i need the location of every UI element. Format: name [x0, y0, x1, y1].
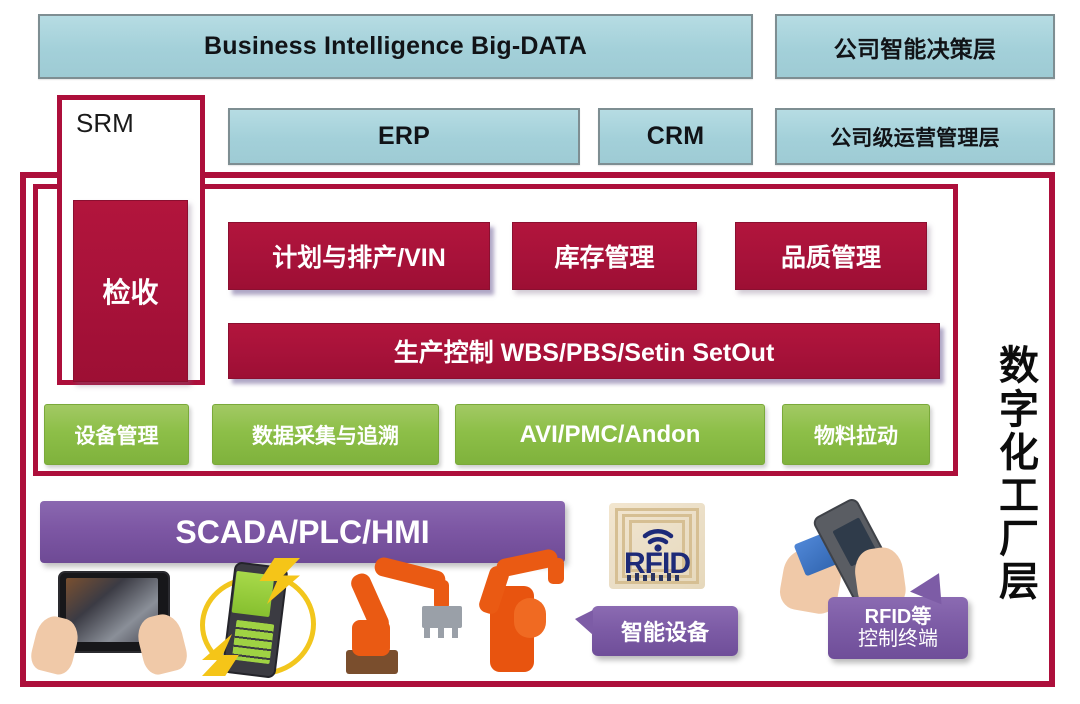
- factory-layer-char-1: 字: [999, 389, 1039, 432]
- module-equipment-management-label: 设备管理: [75, 420, 159, 450]
- callout-rfid-terminal: RFID等 控制终端: [828, 597, 968, 659]
- production-control-label: 生产控制 WBS/PBS/Setin SetOut: [394, 333, 775, 369]
- scada-plc-hmi-label: SCADA/PLC/HMI: [175, 514, 429, 551]
- module-inventory: 库存管理: [512, 222, 697, 290]
- module-material-pull-label: 物料拉动: [814, 420, 898, 450]
- factory-layer-char-2: 化: [999, 432, 1039, 475]
- diagram-canvas: Business Intelligence Big-DATA 公司智能决策层 E…: [0, 0, 1080, 704]
- rugged-phone-illustration: [198, 560, 310, 678]
- module-data-collection-trace-label: 数据采集与追溯: [252, 420, 399, 450]
- erp-box: ERP: [228, 108, 580, 165]
- srm-title: SRM: [76, 108, 134, 139]
- module-avi-pmc-andon-label: AVI/PMC/Andon: [520, 421, 701, 449]
- factory-layer-vertical-label: 数 字 化 工 厂 层: [995, 275, 1043, 675]
- module-equipment-management: 设备管理: [44, 404, 189, 465]
- callout-smart-equipment-label: 智能设备: [621, 615, 709, 647]
- decision-layer-label: 公司智能决策层: [834, 30, 996, 64]
- operation-layer-box: 公司级运营管理层: [775, 108, 1055, 165]
- callout-rfid-terminal-line1: RFID等: [865, 606, 932, 628]
- factory-layer-char-0: 数: [999, 345, 1039, 388]
- callout-rfid-terminal-line2: 控制终端: [858, 628, 938, 650]
- industrial-robot-arm-2-illustration: [460, 552, 580, 678]
- callout-smart-equipment-tail-icon: [575, 610, 593, 635]
- operation-layer-label: 公司级运营管理层: [830, 122, 1000, 152]
- callout-smart-equipment: 智能设备: [592, 606, 738, 656]
- module-planning-scheduling: 计划与排产/VIN: [228, 222, 490, 290]
- module-material-pull: 物料拉动: [782, 404, 930, 465]
- rfid-tag-logo-illustration: RFID: [609, 503, 705, 589]
- decision-layer-box: 公司智能决策层: [775, 14, 1055, 79]
- factory-layer-char-3: 工: [999, 475, 1039, 518]
- tablet-with-hands-illustration: [30, 565, 185, 675]
- module-quality-label: 品质管理: [781, 238, 881, 274]
- module-avi-pmc-andon: AVI/PMC/Andon: [455, 404, 765, 465]
- production-control-bar: 生产控制 WBS/PBS/Setin SetOut: [228, 323, 940, 379]
- erp-label: ERP: [378, 122, 430, 151]
- bi-bigdata-label: Business Intelligence Big-DATA: [204, 32, 587, 61]
- bi-bigdata-box: Business Intelligence Big-DATA: [38, 14, 753, 79]
- industrial-robot-arm-1-illustration: [330, 558, 460, 678]
- srm-module-inspection: 检收: [73, 200, 188, 382]
- factory-layer-char-4: 厂: [999, 518, 1039, 561]
- handheld-rfid-scanner-illustration: [778, 500, 908, 612]
- rfid-chip-pads-icon: [609, 503, 705, 589]
- crm-label: CRM: [647, 122, 705, 151]
- module-inventory-label: 库存管理: [554, 238, 654, 274]
- module-quality: 品质管理: [735, 222, 927, 290]
- crm-box: CRM: [598, 108, 753, 165]
- module-planning-scheduling-label: 计划与排产/VIN: [272, 238, 446, 274]
- module-data-collection-trace: 数据采集与追溯: [212, 404, 439, 465]
- srm-module-inspection-label: 检收: [102, 271, 158, 311]
- factory-layer-char-5: 层: [999, 561, 1039, 604]
